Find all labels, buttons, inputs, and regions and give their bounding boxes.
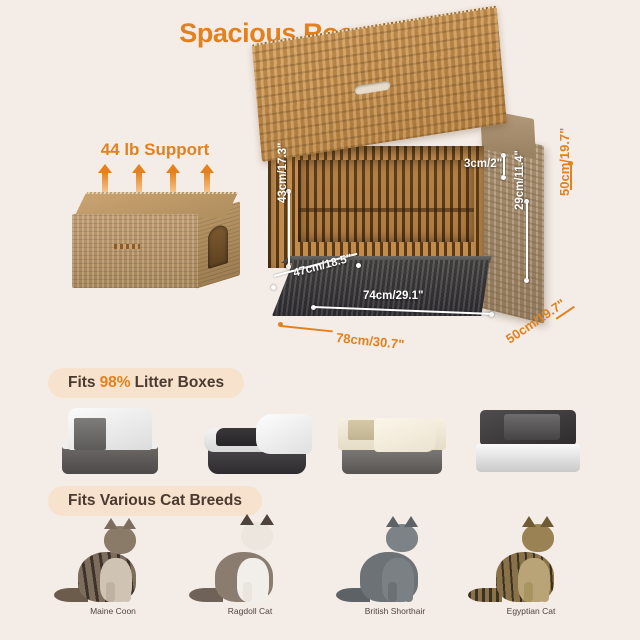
guide-dot (271, 285, 276, 290)
cat-leg (388, 582, 397, 602)
cat-head (386, 524, 418, 552)
dimension-interior-height: 43cm/17.3" (277, 143, 289, 203)
arrow-up-icon (102, 172, 108, 192)
cat-head (241, 522, 273, 550)
product-shelf-line (298, 208, 474, 212)
cat-ear-icon (540, 516, 554, 527)
cat-leg (259, 582, 268, 602)
arrow-up-icon (136, 172, 142, 192)
closed-wicker-box (72, 192, 240, 292)
litter-boxes-pill: Fits 98% Litter Boxes (48, 368, 244, 398)
cat-ear-icon (260, 514, 274, 525)
pill-prefix: Fits (68, 374, 96, 392)
cat-leg (106, 582, 115, 602)
guide-line-lid-gap (503, 155, 505, 175)
cat-breed-item: Egyptian Cat (466, 512, 596, 604)
cat-breed-label: Egyptian Cat (466, 606, 596, 616)
cat-ear-icon (386, 516, 400, 527)
cat-breed-row: Maine Coon Ragdoll Cat British Shorthair… (0, 512, 640, 612)
litter-box-interior (504, 414, 560, 440)
product-back-wall (298, 160, 474, 242)
support-arrows (98, 164, 212, 192)
cat-breed-item: Ragdoll Cat (185, 512, 315, 604)
cat-ear-icon (104, 518, 118, 529)
arrow-up-icon (204, 172, 210, 192)
cat-breed-label: British Shorthair (330, 606, 460, 616)
dimension-overall-height: 50cm/19.7" (557, 128, 572, 196)
box-latch (114, 244, 140, 249)
cat-leg (243, 582, 252, 602)
cat-ear-icon (522, 516, 536, 527)
arrow-up-icon (170, 172, 176, 192)
pill-highlight: 98% (100, 374, 131, 392)
cat-leg (540, 582, 549, 602)
cat-ear-icon (122, 518, 136, 529)
product-interior (268, 146, 484, 268)
litter-box-hood (256, 414, 312, 454)
guide-dot (501, 175, 506, 180)
cat-breed-label: Ragdoll Cat (185, 606, 315, 616)
support-label: 44 lb Support (60, 140, 250, 160)
cat-ear-icon (404, 516, 418, 527)
guide-line-interior-height (288, 192, 290, 266)
pill-suffix: Litter Boxes (135, 374, 225, 392)
cat-leg (524, 582, 533, 602)
guide-dot (356, 263, 361, 268)
dimension-entrance-height: 29cm/11.4" (514, 150, 526, 210)
cat-breed-item: British Shorthair (330, 512, 460, 604)
dimension-interior-width: 74cm/29.1" (363, 290, 423, 302)
box-front-panel (72, 214, 198, 288)
dimension-lid-gap: 3cm/2" (464, 158, 502, 170)
support-illustration: 44 lb Support (60, 140, 250, 300)
box-entrance-arch (208, 223, 228, 269)
litter-box-item (194, 398, 314, 478)
litter-box-shield (374, 418, 436, 452)
lid-handle-slot (354, 81, 390, 96)
litter-box-row (0, 398, 640, 478)
litter-box-item (466, 398, 586, 478)
cat-breed-label: Maine Coon (48, 606, 178, 616)
litter-box-base (476, 444, 580, 472)
cat-head (104, 526, 136, 554)
cat-ear-icon (240, 514, 254, 525)
cat-leg (122, 582, 131, 602)
cat-breed-item: Maine Coon (48, 512, 178, 604)
guide-line-entrance-height (526, 202, 528, 279)
cat-head (522, 524, 554, 552)
cat-leg (404, 582, 413, 602)
litter-box-door (74, 418, 106, 450)
litter-box-item (48, 398, 168, 478)
litter-box-item (330, 398, 450, 478)
